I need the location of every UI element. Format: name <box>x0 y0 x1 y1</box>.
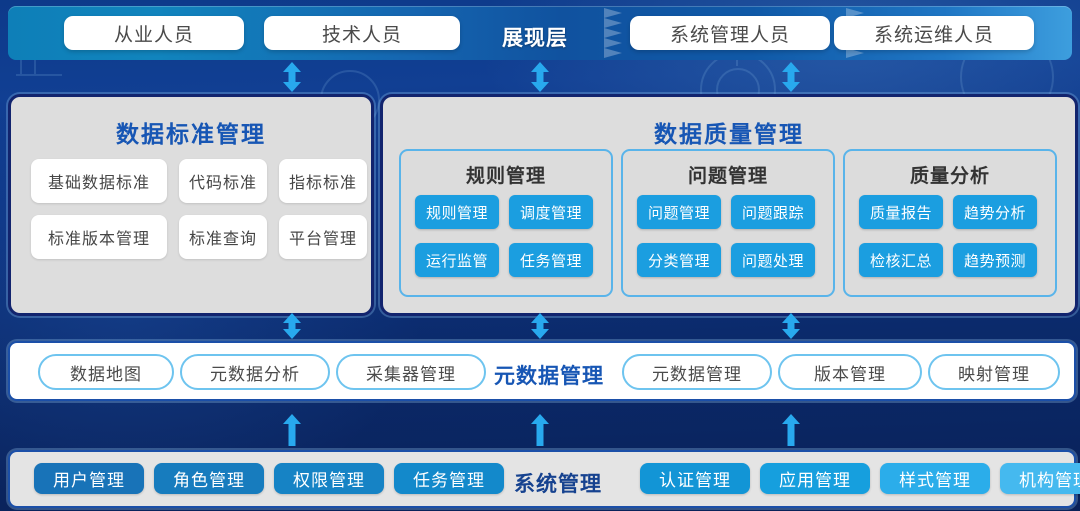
role-label: 系统管理人员 <box>670 20 790 47</box>
standard-item-label: 指标标准 <box>289 169 357 193</box>
quality-button-label: 趋势分析 <box>964 202 1026 223</box>
data-quality-panel: 数据质量管理 规则管理 规则管理 调度管理 运行监管 任务管理 问题管理 <box>380 94 1078 316</box>
up-arrow-bottom-3 <box>782 414 800 446</box>
role-label: 技术人员 <box>322 20 402 47</box>
standard-item[interactable]: 指标标准 <box>279 159 367 203</box>
presentation-layer-bar: 从业人员 技术人员 展现层 系统管理人员 系统运维人员 <box>8 6 1072 60</box>
metadata-item-collector[interactable]: 采集器管理 <box>336 354 486 390</box>
metadata-item-label: 版本管理 <box>814 360 886 385</box>
standard-item[interactable]: 标准版本管理 <box>31 215 167 259</box>
system-item-user[interactable]: 用户管理 <box>34 463 144 494</box>
quality-group-title: 质量分析 <box>845 161 1055 188</box>
bidirectional-arrow-top-3 <box>782 62 800 92</box>
metadata-item-version[interactable]: 版本管理 <box>778 354 922 390</box>
quality-button[interactable]: 趋势分析 <box>953 195 1037 229</box>
quality-button-label: 问题处理 <box>742 250 804 271</box>
standard-item[interactable]: 代码标准 <box>179 159 267 203</box>
metadata-item-label: 元数据管理 <box>652 360 742 385</box>
quality-button-label: 检核汇总 <box>870 250 932 271</box>
quality-button-label: 分类管理 <box>648 250 710 271</box>
quality-button[interactable]: 规则管理 <box>415 195 499 229</box>
system-item-label: 权限管理 <box>293 466 365 491</box>
metadata-item-analysis[interactable]: 元数据分析 <box>180 354 330 390</box>
quality-group-rule: 规则管理 规则管理 调度管理 运行监管 任务管理 <box>399 149 613 297</box>
quality-group-title: 规则管理 <box>401 161 611 188</box>
up-arrow-bottom-2 <box>531 414 549 446</box>
quality-button-label: 质量报告 <box>870 202 932 223</box>
system-item-label: 应用管理 <box>779 466 851 491</box>
role-chip-technician[interactable]: 技术人员 <box>264 16 460 50</box>
system-item-auth[interactable]: 认证管理 <box>640 463 750 494</box>
bidirectional-arrow-mid-1 <box>283 313 301 339</box>
role-chip-sysadmin[interactable]: 系统管理人员 <box>630 16 830 50</box>
system-item-label: 角色管理 <box>173 466 245 491</box>
bidirectional-arrow-top-2 <box>531 62 549 92</box>
bidirectional-arrow-mid-3 <box>782 313 800 339</box>
system-item-label: 机构管理 <box>1019 466 1080 491</box>
bidirectional-arrow-top-1 <box>283 62 301 92</box>
up-arrow-bottom-1 <box>283 414 301 446</box>
quality-button[interactable]: 问题管理 <box>637 195 721 229</box>
standard-item-label: 标准查询 <box>189 225 257 249</box>
quality-button-label: 运行监管 <box>426 250 488 271</box>
quality-button[interactable]: 问题跟踪 <box>731 195 815 229</box>
standard-item[interactable]: 标准查询 <box>179 215 267 259</box>
architecture-diagram: 从业人员 技术人员 展现层 系统管理人员 系统运维人员 数据标准管理 基础数据标… <box>0 0 1080 511</box>
system-item-label: 用户管理 <box>53 466 125 491</box>
system-item-task[interactable]: 任务管理 <box>394 463 504 494</box>
quality-button[interactable]: 趋势预测 <box>953 243 1037 277</box>
metadata-layer-bar: 数据地图 元数据分析 采集器管理 元数据管理 元数据管理 版本管理 映射管理 <box>8 341 1076 401</box>
standard-item[interactable]: 基础数据标准 <box>31 159 167 203</box>
standard-item-label: 代码标准 <box>189 169 257 193</box>
metadata-item-label: 采集器管理 <box>366 360 456 385</box>
quality-button[interactable]: 任务管理 <box>509 243 593 277</box>
role-label: 从业人员 <box>114 20 194 47</box>
role-chip-sysops[interactable]: 系统运维人员 <box>834 16 1034 50</box>
role-label: 系统运维人员 <box>874 20 994 47</box>
quality-button-label: 问题跟踪 <box>742 202 804 223</box>
system-item-style[interactable]: 样式管理 <box>880 463 990 494</box>
quality-group-issue: 问题管理 问题管理 问题跟踪 分类管理 问题处理 <box>621 149 835 297</box>
metadata-item-label: 元数据分析 <box>210 360 300 385</box>
presentation-layer-label: 展现层 <box>502 22 568 52</box>
standard-item[interactable]: 平台管理 <box>279 215 367 259</box>
standard-item-label: 基础数据标准 <box>48 169 150 193</box>
standard-item-label: 标准版本管理 <box>48 225 150 249</box>
metadata-item-metadata-mgmt[interactable]: 元数据管理 <box>622 354 772 390</box>
quality-button[interactable]: 检核汇总 <box>859 243 943 277</box>
role-chip-practitioner[interactable]: 从业人员 <box>64 16 244 50</box>
quality-group-title: 问题管理 <box>623 161 833 188</box>
metadata-layer-label: 元数据管理 <box>494 360 604 390</box>
quality-button-label: 趋势预测 <box>964 250 1026 271</box>
metadata-item-label: 数据地图 <box>70 360 142 385</box>
system-item-permission[interactable]: 权限管理 <box>274 463 384 494</box>
quality-button[interactable]: 调度管理 <box>509 195 593 229</box>
bidirectional-arrow-mid-2 <box>531 313 549 339</box>
metadata-item-data-map[interactable]: 数据地图 <box>38 354 174 390</box>
system-item-application[interactable]: 应用管理 <box>760 463 870 494</box>
quality-button-label: 规则管理 <box>426 202 488 223</box>
quality-group-analysis: 质量分析 质量报告 趋势分析 检核汇总 趋势预测 <box>843 149 1057 297</box>
metadata-item-label: 映射管理 <box>958 360 1030 385</box>
data-standard-title: 数据标准管理 <box>11 115 371 149</box>
quality-button-label: 调度管理 <box>520 202 582 223</box>
metadata-item-mapping[interactable]: 映射管理 <box>928 354 1060 390</box>
system-item-organization[interactable]: 机构管理 <box>1000 463 1080 494</box>
system-layer-bar: 用户管理 角色管理 权限管理 任务管理 系统管理 认证管理 应用管理 样式管理 … <box>8 450 1076 508</box>
quality-button[interactable]: 运行监管 <box>415 243 499 277</box>
quality-button-label: 任务管理 <box>520 250 582 271</box>
standard-item-label: 平台管理 <box>289 225 357 249</box>
quality-button[interactable]: 分类管理 <box>637 243 721 277</box>
data-quality-title: 数据质量管理 <box>383 115 1075 149</box>
quality-button[interactable]: 问题处理 <box>731 243 815 277</box>
system-layer-label: 系统管理 <box>514 468 602 498</box>
quality-button[interactable]: 质量报告 <box>859 195 943 229</box>
system-item-label: 样式管理 <box>899 466 971 491</box>
quality-button-label: 问题管理 <box>648 202 710 223</box>
system-item-label: 认证管理 <box>659 466 731 491</box>
data-standard-panel: 数据标准管理 基础数据标准 代码标准 指标标准 标准版本管理 标准查询 平台管理 <box>8 94 374 316</box>
system-item-role[interactable]: 角色管理 <box>154 463 264 494</box>
system-item-label: 任务管理 <box>413 466 485 491</box>
